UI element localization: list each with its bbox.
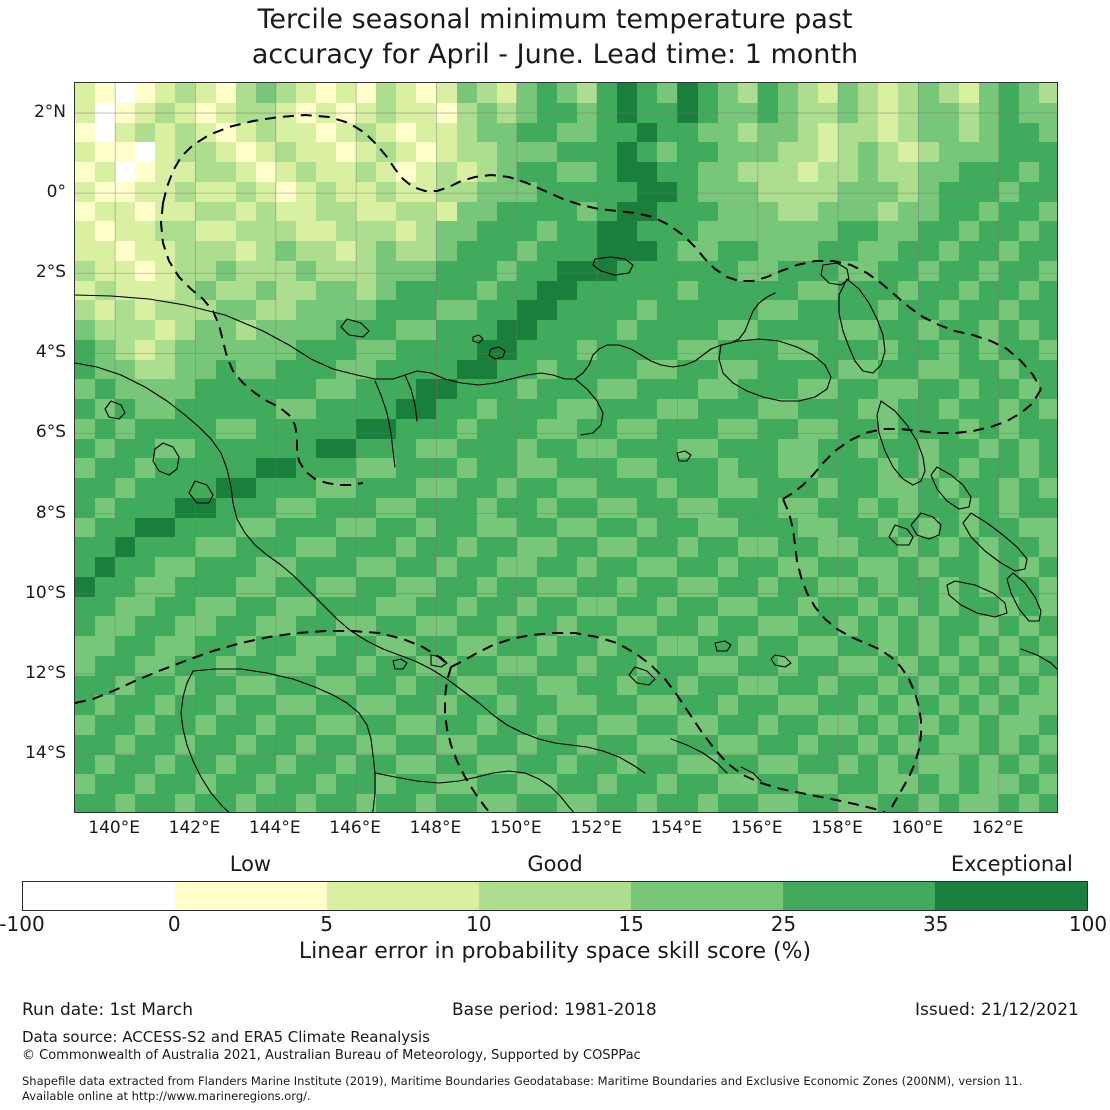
heatmap-cell bbox=[878, 458, 899, 478]
heatmap-cell bbox=[95, 320, 116, 340]
heatmap-cell bbox=[999, 340, 1020, 360]
heatmap-cell bbox=[1019, 755, 1040, 775]
heatmap-cell bbox=[517, 419, 538, 439]
heatmap-cell bbox=[336, 142, 357, 162]
heatmap-cell bbox=[878, 221, 899, 241]
heatmap-cell bbox=[236, 221, 257, 241]
heatmap-cell bbox=[216, 340, 237, 360]
heatmap-cell bbox=[1039, 636, 1058, 656]
heatmap-cell bbox=[738, 221, 759, 241]
heatmap-cell bbox=[939, 123, 960, 143]
heatmap-cell bbox=[175, 261, 196, 281]
heatmap-cell bbox=[537, 537, 558, 557]
heatmap-cell bbox=[838, 439, 859, 459]
heatmap-cell bbox=[657, 676, 678, 696]
heatmap-cell bbox=[597, 577, 618, 597]
heatmap-cell bbox=[1019, 794, 1040, 813]
heatmap-cell bbox=[698, 281, 719, 301]
heatmap-cell bbox=[597, 695, 618, 715]
heatmap-cell bbox=[115, 281, 136, 301]
heatmap-cell bbox=[597, 360, 618, 380]
heatmap-cell bbox=[296, 557, 317, 577]
heatmap-cell bbox=[617, 715, 638, 735]
heatmap-cell bbox=[959, 162, 980, 182]
heatmap-cell bbox=[577, 123, 598, 143]
heatmap-cell bbox=[898, 340, 919, 360]
heatmap-cell bbox=[296, 577, 317, 597]
colorbar-category-label: Good bbox=[465, 852, 645, 876]
heatmap-cell bbox=[115, 458, 136, 478]
heatmap-cell bbox=[276, 202, 297, 222]
heatmap-cell bbox=[195, 261, 216, 281]
heatmap-cell bbox=[778, 676, 799, 696]
heatmap-cell bbox=[356, 774, 377, 794]
heatmap-cell bbox=[818, 202, 839, 222]
heatmap-cell bbox=[477, 458, 498, 478]
heatmap-cell bbox=[818, 162, 839, 182]
heatmap-cell bbox=[939, 281, 960, 301]
heatmap-cell bbox=[657, 518, 678, 538]
heatmap-cell bbox=[738, 360, 759, 380]
heatmap-cell bbox=[557, 458, 578, 478]
heatmap-cell bbox=[537, 261, 558, 281]
heatmap-cell bbox=[276, 320, 297, 340]
heatmap-cell bbox=[557, 636, 578, 656]
heatmap-cell bbox=[939, 202, 960, 222]
heatmap-cell bbox=[155, 557, 176, 577]
heatmap-cell bbox=[677, 597, 698, 617]
heatmap-cell bbox=[838, 83, 859, 103]
heatmap-cell bbox=[657, 715, 678, 735]
heatmap-cell bbox=[517, 478, 538, 498]
heatmap-cell bbox=[75, 616, 96, 636]
heatmap-cell bbox=[155, 616, 176, 636]
heatmap-cell bbox=[95, 518, 116, 538]
heatmap-cell bbox=[557, 103, 578, 123]
heatmap-cell bbox=[316, 320, 337, 340]
heatmap-cell bbox=[276, 123, 297, 143]
heatmap-cell bbox=[1019, 458, 1040, 478]
heatmap-cell bbox=[135, 439, 156, 459]
heatmap-cell bbox=[979, 241, 1000, 261]
heatmap-cell bbox=[758, 142, 779, 162]
heatmap-cell bbox=[778, 399, 799, 419]
heatmap-cell bbox=[436, 656, 457, 676]
heatmap-cell bbox=[898, 360, 919, 380]
heatmap-cell bbox=[376, 202, 397, 222]
heatmap-cell bbox=[597, 439, 618, 459]
heatmap-cell bbox=[477, 379, 498, 399]
heatmap-cell bbox=[436, 241, 457, 261]
heatmap-cell bbox=[939, 676, 960, 696]
heatmap-cell bbox=[376, 715, 397, 735]
heatmap-cell bbox=[959, 518, 980, 538]
heatmap-cell bbox=[316, 123, 337, 143]
heatmap-cell bbox=[296, 103, 317, 123]
heatmap-cell bbox=[758, 735, 779, 755]
heatmap-cell bbox=[577, 458, 598, 478]
heatmap-cell bbox=[959, 478, 980, 498]
heatmap-cell bbox=[818, 794, 839, 813]
heatmap-cell bbox=[718, 537, 739, 557]
heatmap-cell bbox=[336, 577, 357, 597]
heatmap-cell bbox=[256, 419, 277, 439]
heatmap-cell bbox=[477, 103, 498, 123]
heatmap-cell bbox=[296, 518, 317, 538]
heatmap-cell bbox=[858, 458, 879, 478]
heatmap-cell bbox=[898, 616, 919, 636]
heatmap-cell bbox=[1039, 162, 1058, 182]
heatmap-cell bbox=[276, 399, 297, 419]
heatmap-cell bbox=[597, 340, 618, 360]
heatmap-cell bbox=[316, 261, 337, 281]
heatmap-cell bbox=[236, 123, 257, 143]
heatmap-cell bbox=[276, 597, 297, 617]
heatmap-cell bbox=[356, 399, 377, 419]
heatmap-cell bbox=[698, 616, 719, 636]
heatmap-cell bbox=[637, 360, 658, 380]
heatmap-cell bbox=[1039, 142, 1058, 162]
heatmap-cell bbox=[175, 221, 196, 241]
heatmap-cell bbox=[416, 261, 437, 281]
heatmap-cell bbox=[999, 458, 1020, 478]
heatmap-cell bbox=[436, 616, 457, 636]
heatmap-cell bbox=[457, 537, 478, 557]
heatmap-cell bbox=[457, 221, 478, 241]
heatmap-cell bbox=[999, 162, 1020, 182]
heatmap-cell bbox=[918, 715, 939, 735]
heatmap-cell bbox=[75, 439, 96, 459]
heatmap-cell bbox=[75, 735, 96, 755]
heatmap-cell bbox=[356, 142, 377, 162]
heatmap-cell bbox=[677, 577, 698, 597]
heatmap-cell bbox=[256, 123, 277, 143]
heatmap-cell bbox=[276, 182, 297, 202]
heatmap-cell bbox=[677, 83, 698, 103]
heatmap-cell bbox=[798, 162, 819, 182]
heatmap-cell bbox=[436, 202, 457, 222]
heatmap-cell bbox=[818, 399, 839, 419]
colorbar-tick-label: 35 bbox=[910, 912, 962, 936]
heatmap-cell bbox=[637, 794, 658, 813]
heatmap-cell bbox=[175, 557, 196, 577]
heatmap-cell bbox=[517, 439, 538, 459]
heatmap-cell bbox=[738, 616, 759, 636]
heatmap-cell bbox=[838, 774, 859, 794]
heatmap-cell bbox=[276, 735, 297, 755]
heatmap-cell bbox=[999, 518, 1020, 538]
heatmap-cell bbox=[477, 518, 498, 538]
heatmap-cell bbox=[336, 636, 357, 656]
heatmap-cell bbox=[818, 261, 839, 281]
heatmap-cell bbox=[959, 557, 980, 577]
heatmap-cell bbox=[778, 182, 799, 202]
heatmap-cell bbox=[75, 498, 96, 518]
heatmap-cell bbox=[316, 221, 337, 241]
heatmap-cell bbox=[95, 281, 116, 301]
heatmap-cell bbox=[256, 221, 277, 241]
heatmap-cell bbox=[95, 755, 116, 775]
heatmap-cell bbox=[115, 142, 136, 162]
heatmap-cell bbox=[1039, 241, 1058, 261]
heatmap-cell bbox=[617, 320, 638, 340]
latitude-tick-label: 6°S bbox=[6, 422, 66, 442]
heatmap-cell bbox=[396, 241, 417, 261]
heatmap-cell bbox=[738, 202, 759, 222]
heatmap-cell bbox=[637, 695, 658, 715]
heatmap-cell bbox=[597, 755, 618, 775]
heatmap-cell bbox=[617, 656, 638, 676]
heatmap-cell bbox=[336, 676, 357, 696]
heatmap-cell bbox=[918, 636, 939, 656]
heatmap-cell bbox=[878, 360, 899, 380]
heatmap-cell bbox=[396, 458, 417, 478]
heatmap-cell bbox=[1019, 399, 1040, 419]
heatmap-cell bbox=[1019, 597, 1040, 617]
climate-map-figure: Tercile seasonal minimum temperature pas… bbox=[0, 0, 1110, 1110]
heatmap-cell bbox=[396, 735, 417, 755]
heatmap-cell bbox=[396, 399, 417, 419]
heatmap-cell bbox=[195, 676, 216, 696]
heatmap-cell bbox=[918, 379, 939, 399]
heatmap-cell bbox=[898, 715, 919, 735]
heatmap-cell bbox=[798, 123, 819, 143]
heatmap-cell bbox=[457, 399, 478, 419]
heatmap-cell bbox=[778, 557, 799, 577]
heatmap-cell bbox=[376, 142, 397, 162]
heatmap-cell bbox=[175, 162, 196, 182]
heatmap-cell bbox=[637, 241, 658, 261]
heatmap-cell bbox=[577, 597, 598, 617]
heatmap-cell bbox=[959, 656, 980, 676]
heatmap-cell bbox=[999, 695, 1020, 715]
heatmap-cell bbox=[577, 83, 598, 103]
heatmap-cell bbox=[1019, 340, 1040, 360]
heatmap-cell bbox=[396, 636, 417, 656]
heatmap-cell bbox=[396, 221, 417, 241]
heatmap-cell bbox=[939, 478, 960, 498]
heatmap-cell bbox=[356, 419, 377, 439]
heatmap-cell bbox=[477, 577, 498, 597]
heatmap-cell bbox=[979, 281, 1000, 301]
longitude-tick-label: 154°E bbox=[631, 818, 721, 838]
heatmap-cell bbox=[918, 498, 939, 518]
heatmap-cell bbox=[637, 597, 658, 617]
heatmap-cell bbox=[738, 715, 759, 735]
heatmap-cell bbox=[979, 379, 1000, 399]
heatmap-cell bbox=[858, 794, 879, 813]
heatmap-cell bbox=[557, 695, 578, 715]
heatmap-cell bbox=[95, 478, 116, 498]
heatmap-cell bbox=[537, 557, 558, 577]
heatmap-cell bbox=[115, 399, 136, 419]
heatmap-cell bbox=[195, 557, 216, 577]
heatmap-cell bbox=[657, 557, 678, 577]
heatmap-cell bbox=[657, 616, 678, 636]
heatmap-cell bbox=[216, 518, 237, 538]
heatmap-cell bbox=[597, 300, 618, 320]
heatmap-cell bbox=[979, 83, 1000, 103]
heatmap-cell bbox=[537, 300, 558, 320]
heatmap-cell bbox=[316, 340, 337, 360]
heatmap-cell bbox=[517, 656, 538, 676]
heatmap-cell bbox=[698, 755, 719, 775]
heatmap-cell bbox=[738, 537, 759, 557]
heatmap-cell bbox=[778, 123, 799, 143]
heatmap-cell bbox=[1019, 695, 1040, 715]
heatmap-cell bbox=[216, 360, 237, 380]
heatmap-cell bbox=[236, 656, 257, 676]
heatmap-cell bbox=[597, 281, 618, 301]
heatmap-cell bbox=[416, 300, 437, 320]
heatmap-cell bbox=[356, 755, 377, 775]
heatmap-cell bbox=[236, 142, 257, 162]
heatmap-cell bbox=[698, 320, 719, 340]
longitude-tick-label: 152°E bbox=[551, 818, 641, 838]
heatmap-cell bbox=[497, 379, 518, 399]
heatmap-cell bbox=[999, 399, 1020, 419]
heatmap-cell bbox=[155, 221, 176, 241]
heatmap-cell bbox=[999, 616, 1020, 636]
heatmap-cell bbox=[898, 103, 919, 123]
heatmap-cell bbox=[316, 103, 337, 123]
heatmap-cell bbox=[878, 695, 899, 715]
heatmap-cell bbox=[195, 616, 216, 636]
heatmap-cell bbox=[457, 695, 478, 715]
heatmap-cell bbox=[155, 379, 176, 399]
heatmap-cell bbox=[858, 221, 879, 241]
heatmap-cell bbox=[75, 103, 96, 123]
heatmap-cell bbox=[296, 360, 317, 380]
heatmap-cell bbox=[979, 656, 1000, 676]
heatmap-cell bbox=[979, 755, 1000, 775]
heatmap-cell bbox=[798, 320, 819, 340]
heatmap-cell bbox=[195, 202, 216, 222]
heatmap-cell bbox=[436, 399, 457, 419]
heatmap-cell bbox=[276, 360, 297, 380]
heatmap-cell bbox=[677, 103, 698, 123]
heatmap-cell bbox=[1019, 281, 1040, 301]
heatmap-cell bbox=[878, 83, 899, 103]
heatmap-cell bbox=[738, 676, 759, 696]
heatmap-cell bbox=[256, 320, 277, 340]
heatmap-cell bbox=[537, 320, 558, 340]
heatmap-cell bbox=[818, 123, 839, 143]
heatmap-cell bbox=[1039, 695, 1058, 715]
heatmap-cell bbox=[236, 300, 257, 320]
heatmap-cell bbox=[918, 518, 939, 538]
heatmap-cell bbox=[778, 379, 799, 399]
heatmap-cell bbox=[858, 616, 879, 636]
heatmap-cell bbox=[457, 83, 478, 103]
heatmap-cell bbox=[557, 261, 578, 281]
heatmap-cell bbox=[677, 676, 698, 696]
heatmap-cell bbox=[135, 162, 156, 182]
heatmap-cell bbox=[115, 261, 136, 281]
heatmap-cell bbox=[758, 755, 779, 775]
heatmap-cell bbox=[738, 577, 759, 597]
colorbar-segment bbox=[783, 882, 935, 910]
heatmap-cell bbox=[517, 636, 538, 656]
heatmap-cell bbox=[497, 715, 518, 735]
heatmap-cell bbox=[898, 202, 919, 222]
heatmap-cell bbox=[537, 221, 558, 241]
heatmap-cell bbox=[416, 142, 437, 162]
heatmap-cell bbox=[396, 261, 417, 281]
heatmap-cell bbox=[1039, 577, 1058, 597]
heatmap-cell bbox=[256, 715, 277, 735]
heatmap-cell bbox=[436, 676, 457, 696]
heatmap-cell bbox=[457, 419, 478, 439]
heatmap-cell bbox=[798, 202, 819, 222]
heatmap-cell bbox=[115, 379, 136, 399]
heatmap-cell bbox=[577, 557, 598, 577]
heatmap-cell bbox=[155, 498, 176, 518]
heatmap-cell bbox=[798, 399, 819, 419]
heatmap-cell bbox=[436, 518, 457, 538]
heatmap-cell bbox=[557, 557, 578, 577]
heatmap-cell bbox=[898, 478, 919, 498]
heatmap-cell bbox=[477, 419, 498, 439]
heatmap-cell bbox=[316, 597, 337, 617]
heatmap-cell bbox=[677, 794, 698, 813]
heatmap-cell bbox=[376, 498, 397, 518]
heatmap-cell bbox=[236, 419, 257, 439]
heatmap-cell bbox=[637, 123, 658, 143]
heatmap-cell bbox=[155, 142, 176, 162]
heatmap-cell bbox=[376, 656, 397, 676]
heatmap-cell bbox=[677, 498, 698, 518]
heatmap-cell bbox=[457, 123, 478, 143]
heatmap-cell bbox=[135, 695, 156, 715]
heatmap-cell bbox=[577, 695, 598, 715]
heatmap-cell bbox=[999, 577, 1020, 597]
heatmap-cell bbox=[999, 360, 1020, 380]
heatmap-cell bbox=[657, 281, 678, 301]
heatmap-cell bbox=[296, 399, 317, 419]
heatmap-cell bbox=[999, 281, 1020, 301]
heatmap-cell bbox=[898, 300, 919, 320]
heatmap-cell bbox=[657, 735, 678, 755]
heatmap-cell bbox=[858, 735, 879, 755]
heatmap-cell bbox=[517, 774, 538, 794]
heatmap-cell bbox=[195, 162, 216, 182]
heatmap-cell bbox=[557, 221, 578, 241]
heatmap-cell bbox=[537, 103, 558, 123]
heatmap-cell bbox=[898, 281, 919, 301]
heatmap-cell bbox=[577, 241, 598, 261]
heatmap-cell bbox=[396, 715, 417, 735]
heatmap-cell bbox=[718, 182, 739, 202]
heatmap-cell bbox=[798, 182, 819, 202]
heatmap-cell bbox=[356, 537, 377, 557]
heatmap-cell bbox=[95, 695, 116, 715]
heatmap-cell bbox=[999, 419, 1020, 439]
heatmap-cell bbox=[95, 458, 116, 478]
heatmap-cell bbox=[296, 695, 317, 715]
heatmap-cell bbox=[457, 458, 478, 478]
heatmap-cell bbox=[195, 636, 216, 656]
heatmap-cell bbox=[276, 300, 297, 320]
heatmap-cell bbox=[838, 103, 859, 123]
heatmap-cell bbox=[356, 360, 377, 380]
heatmap-cell bbox=[537, 636, 558, 656]
heatmap-cell bbox=[517, 557, 538, 577]
heatmap-cell bbox=[758, 202, 779, 222]
heatmap-cell bbox=[597, 478, 618, 498]
heatmap-cell bbox=[276, 142, 297, 162]
heatmap-cell bbox=[818, 142, 839, 162]
